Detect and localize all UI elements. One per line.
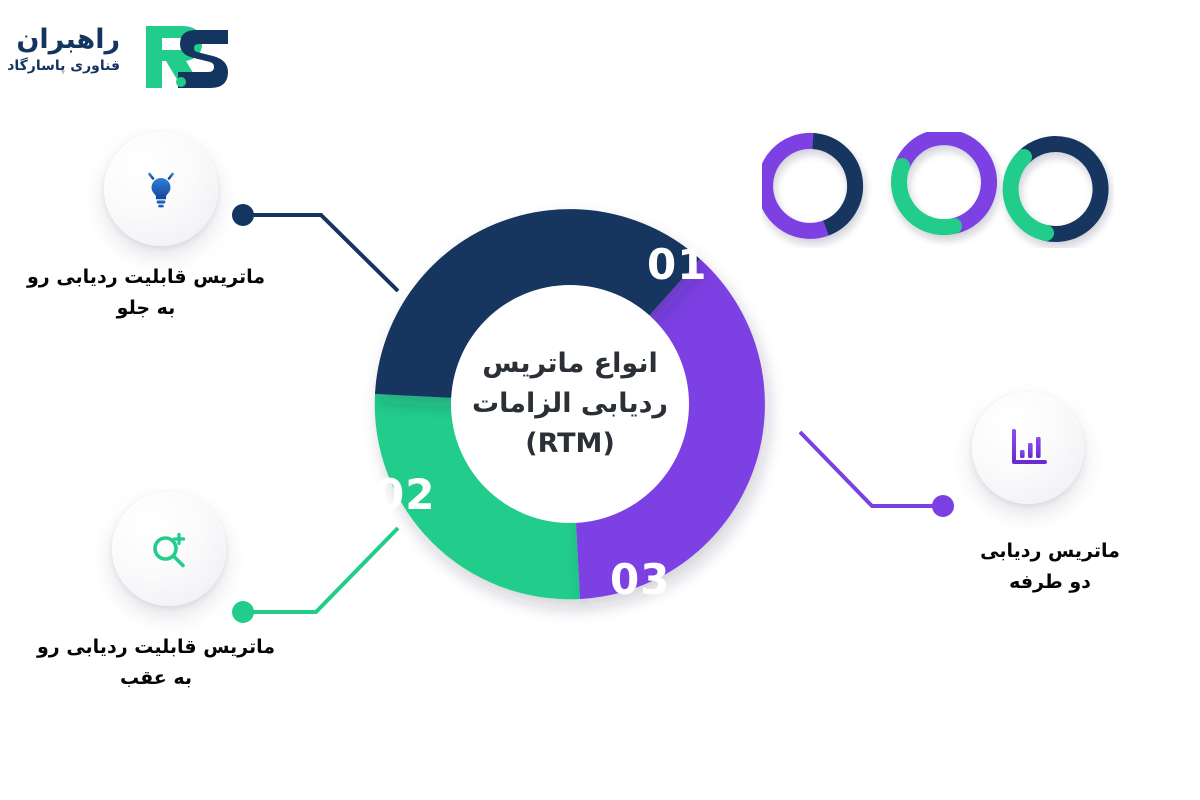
donut-center-hub: انواع ماتریس ردیابی الزامات (RTM) bbox=[451, 285, 689, 523]
icon-bubble-forward[interactable] bbox=[104, 132, 218, 246]
center-title-line-2: ردیابی الزامات bbox=[470, 384, 670, 424]
center-title: انواع ماتریس ردیابی الزامات (RTM) bbox=[470, 344, 670, 464]
infographic-canvas: راهبران فناوری پاسارگاد bbox=[0, 0, 1200, 800]
lightbulb-icon bbox=[138, 166, 184, 212]
caption-backward-line-2: به عقب bbox=[120, 667, 192, 689]
caption-backward-matrix: ماتریس قابلیت ردیابی رو به عقب bbox=[28, 632, 284, 694]
caption-forward-matrix: ماتریس قابلیت ردیابی رو به جلو bbox=[18, 262, 274, 324]
connector-dot-green bbox=[232, 601, 254, 623]
center-title-line-1: انواع ماتریس bbox=[470, 344, 670, 384]
bar-chart-icon bbox=[1006, 426, 1050, 470]
caption-bidirectional-line-1: ماتریس ردیابی bbox=[980, 540, 1120, 562]
caption-bidirectional-line-2: دو طرفه bbox=[1009, 571, 1091, 593]
caption-forward-line-2: به جلو bbox=[117, 297, 176, 319]
connector-dot-navy bbox=[232, 204, 254, 226]
caption-bidirectional-matrix: ماتریس ردیابی دو طرفه bbox=[928, 536, 1172, 598]
magnifier-plus-icon bbox=[146, 526, 192, 572]
caption-forward-line-1: ماتریس قابلیت ردیابی رو bbox=[27, 266, 265, 288]
icon-bubble-backward[interactable] bbox=[112, 492, 226, 606]
center-title-line-3: (RTM) bbox=[470, 424, 670, 464]
caption-backward-line-1: ماتریس قابلیت ردیابی رو bbox=[37, 636, 275, 658]
connector-purple bbox=[800, 432, 954, 517]
connector-dot-purple bbox=[932, 495, 954, 517]
rtm-donut-chart: 01 02 03 انواع ماتریس ردیابی الزامات (RT… bbox=[325, 155, 815, 655]
icon-bubble-bidirectional[interactable] bbox=[972, 392, 1084, 504]
